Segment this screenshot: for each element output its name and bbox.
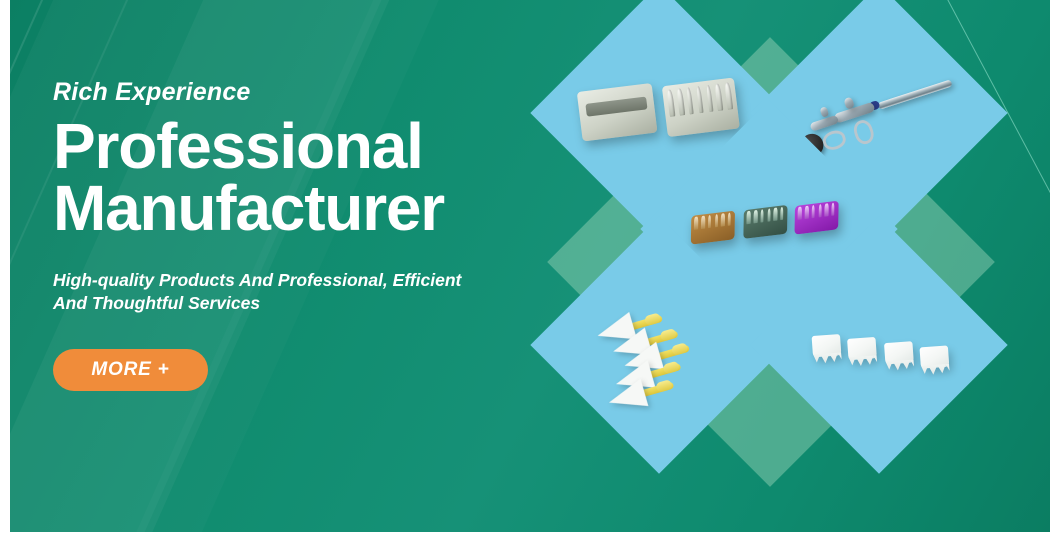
page-title: Professional Manufacturer [53,115,523,239]
gauze-pad-2 [847,338,877,361]
endoscope-body [834,101,877,124]
hero-banner: Rich Experience Professional Manufacture… [10,0,1050,532]
applier-right [661,78,739,138]
eyebrow-text: Rich Experience [53,78,523,107]
cartridge-gold [691,211,735,245]
more-button[interactable]: MORE + [53,349,208,391]
endoscope-finger-ring-2 [852,118,876,146]
headline-line-2: Manufacturer [53,177,523,239]
gauze-pad-1 [811,334,841,357]
applier-left [576,83,656,141]
subtitle-text: High-quality Products And Professional, … [53,269,483,315]
product-collage [530,0,1050,532]
endoscope-shaft [878,80,953,111]
gauze-pad-3 [883,341,913,364]
cartridge-purple [795,200,839,234]
hero-copy: Rich Experience Professional Manufacture… [53,78,523,391]
endoscope-finger-ring-1 [820,128,849,154]
gauze-pad-4 [920,345,950,368]
cartridge-green [743,206,787,240]
